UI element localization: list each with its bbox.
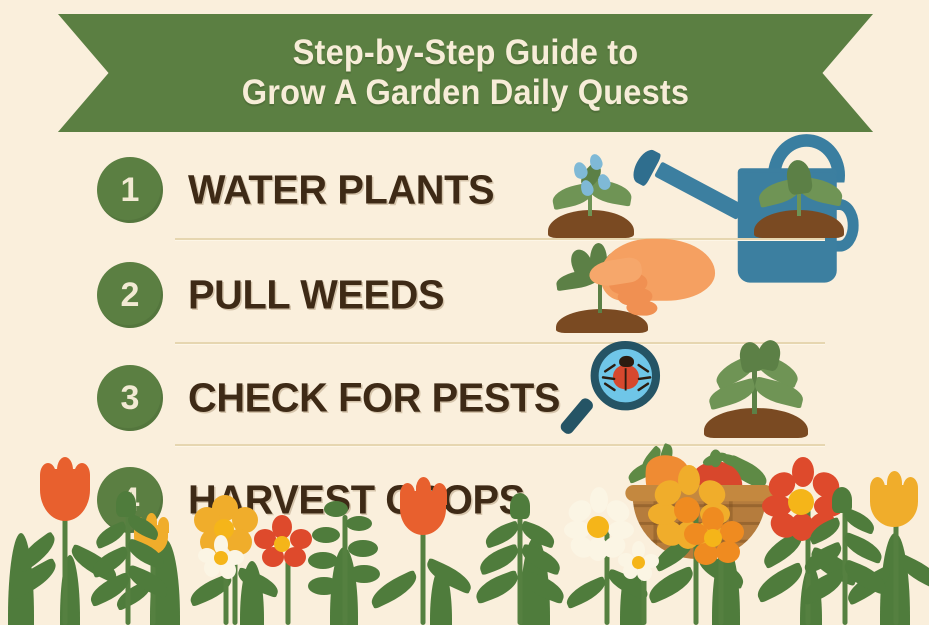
daisy-petal: [204, 559, 220, 577]
check-pests-illustration: [572, 336, 812, 448]
fern-leaflet: [86, 572, 134, 607]
flower-petal: [262, 547, 284, 567]
step-number-4: 4: [121, 481, 140, 520]
title-line-2: Grow A Garden Daily Quests: [242, 73, 689, 113]
fern-leaflet: [88, 546, 132, 579]
step-number-2: 2: [121, 276, 140, 315]
step-label-3: CHECK FOR PESTS: [188, 375, 560, 422]
flower-stem: [642, 571, 647, 625]
sprig-leaf: [472, 570, 522, 605]
daisy-petal: [220, 561, 236, 579]
harvest-crops-illustration: [615, 445, 855, 560]
step-label-2: PULL WEEDS: [188, 272, 444, 319]
step-number-badge-3: 3: [97, 365, 163, 431]
basket-icon: [615, 445, 793, 571]
flower-stem: [286, 553, 291, 625]
daisy-petal: [198, 548, 216, 563]
fern-leaflet: [840, 559, 890, 595]
grass-blade: [240, 561, 264, 625]
flower-stem: [224, 567, 229, 625]
ladybug-head: [619, 356, 634, 367]
grass-blade: [150, 539, 180, 625]
step-row-4: 4 HARVEST CROPS: [0, 450, 929, 550]
flower-leaf: [113, 579, 156, 611]
grass-blade: [520, 537, 550, 625]
page-title: Step-by-Step Guide to Grow A Garden Dail…: [87, 14, 845, 132]
sprig-leaf: [518, 570, 568, 605]
can-rose: [629, 146, 663, 187]
grass-blade: [330, 547, 358, 625]
flower-leaf: [644, 566, 698, 605]
fern-leaflet: [348, 565, 380, 583]
flower-leaf: [366, 570, 421, 610]
fern-leaflet: [798, 569, 848, 606]
flower-petal: [284, 547, 306, 567]
magnifier-handle: [558, 396, 595, 436]
step-label-1: WATER PLANTS: [188, 167, 494, 214]
watering-can-illustration: [548, 122, 848, 247]
grass-blade: [800, 565, 822, 625]
grass-blade: [60, 555, 80, 625]
basket-rim: [625, 485, 773, 501]
flower-leaf: [4, 557, 61, 600]
grass-blade: [430, 567, 452, 625]
fern-leaflet: [308, 552, 338, 569]
pull-weeds-illustration: [552, 235, 752, 345]
step-number-badge-1: 1: [97, 157, 163, 223]
hand-icon: [552, 235, 676, 303]
infographic-poster: Step-by-Step Guide to Grow A Garden Dail…: [0, 0, 929, 625]
step-number-badge-2: 2: [97, 262, 163, 328]
flower-leaf: [604, 568, 651, 600]
flower-leaf: [423, 558, 476, 595]
magnifying-glass-icon: [572, 336, 696, 460]
flower-leaf: [562, 576, 609, 609]
daisy-petal: [226, 550, 244, 565]
can-spout: [654, 161, 744, 219]
step-number-1: 1: [121, 171, 140, 210]
flower-leaf: [842, 565, 895, 605]
flower-stem: [233, 539, 238, 625]
watering-can-icon: [548, 122, 713, 191]
grass-base: [0, 611, 929, 625]
step-row-1: 1 WATER PLANTS: [0, 140, 929, 240]
step-number-3: 3: [121, 379, 140, 418]
flower-leaf: [894, 553, 929, 590]
step-label-4: HARVEST CROPS: [188, 477, 525, 524]
flower-leaf: [186, 573, 235, 607]
title-line-1: Step-by-Step Guide to: [293, 33, 639, 73]
step-row-2: 2 PULL WEEDS: [0, 245, 929, 345]
flower-stem: [151, 551, 156, 625]
fern-leaflet: [124, 564, 172, 598]
ladybug-wing-split: [625, 368, 627, 390]
fern-leaflet: [308, 577, 340, 595]
hand-finger: [626, 300, 658, 316]
flower-center: [214, 551, 228, 565]
title-banner: Step-by-Step Guide to Grow A Garden Dail…: [58, 14, 873, 132]
flower-leaf: [234, 567, 281, 598]
step-row-3: 3 CHECK FOR PESTS: [0, 348, 929, 448]
step-number-badge-4: 4: [97, 467, 163, 533]
